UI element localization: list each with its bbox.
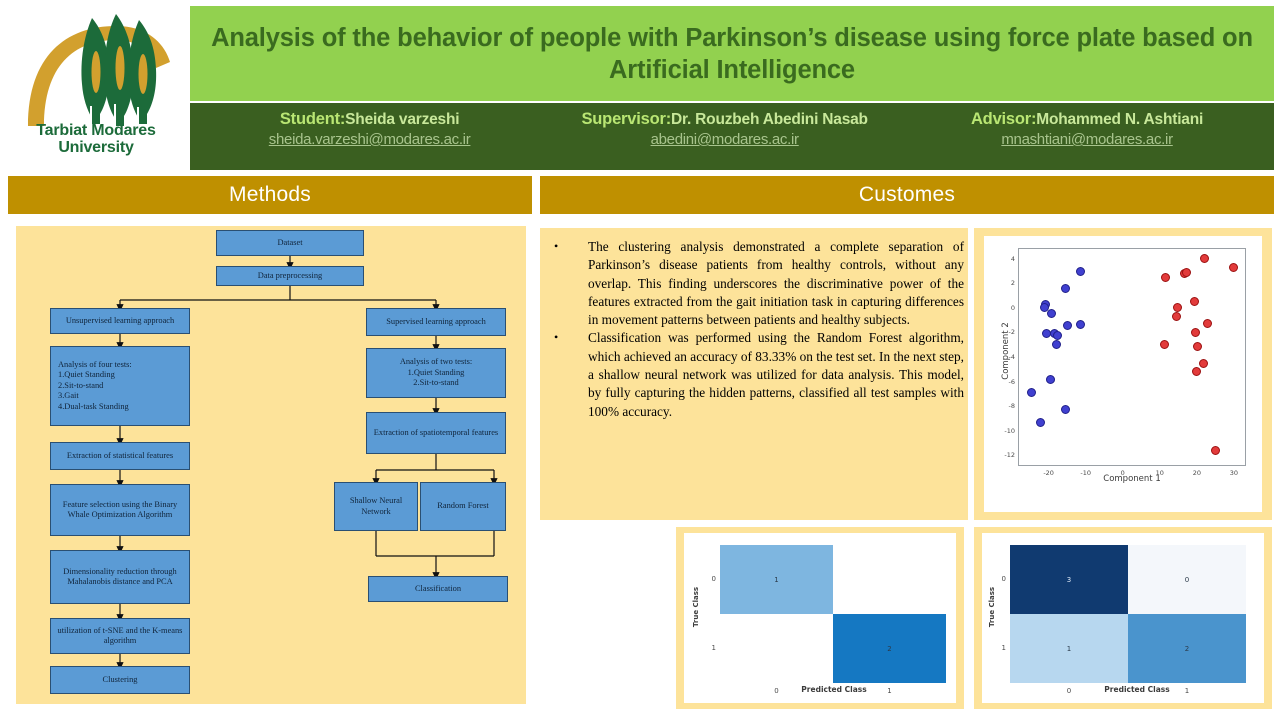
scatter-point <box>1076 267 1085 276</box>
scatter-point <box>1046 375 1055 384</box>
flow-box-dimensionality-reduction: Dimensionality reduction through Mahalan… <box>50 550 190 604</box>
author-supervisor: Supervisor:Dr. Rouzbeh Abedini Nasab abe… <box>531 110 918 148</box>
scatter-point <box>1076 320 1085 329</box>
poster-title: Analysis of the behavior of people with … <box>207 22 1257 86</box>
results-text-panel: The clustering analysis demonstrated a c… <box>540 228 968 520</box>
author-advisor: Advisor:Mohammed N. Ashtiani mnashtiani@… <box>918 110 1256 148</box>
poster-root: Tarbiat Modares University Analysis of t… <box>0 0 1280 720</box>
author-student-email[interactable]: sheida.varzeshi@modares.ac.ir <box>208 131 531 148</box>
author-supervisor-role-line: Supervisor:Dr. Rouzbeh Abedini Nasab <box>531 110 918 129</box>
flow-box-data-preprocessing: Data preprocessing <box>216 266 364 286</box>
flow-box-feature-selection-bwoa-label: Feature selection using the Binary Whale… <box>54 500 186 521</box>
authors-band: Student:Sheida varzeshi sheida.varzeshi@… <box>190 103 1274 170</box>
flow-box-classification-label: Classification <box>415 584 461 595</box>
methods-panel: Dataset Data preprocessing Unsupervised … <box>16 226 526 704</box>
scatter-plot-panel: -20-100102030 420-2-4-6-8-10-12 Componen… <box>974 228 1272 520</box>
cm-rf-cell <box>833 545 946 614</box>
flow-box-spatiotemporal-features: Extraction of spatiotemporal features <box>366 412 506 454</box>
flow-box-tsne-kmeans-label: utilization of t-SNE and the K-means alg… <box>54 626 186 647</box>
cm-rf-cell: 2 <box>833 614 946 683</box>
flow-box-clustering-label: Clustering <box>103 675 138 686</box>
cm-snn-y-tick: 1 <box>990 644 1006 652</box>
flow-box-random-forest: Random Forest <box>420 482 506 531</box>
flow-box-spatiotemporal-features-label: Extraction of spatiotemporal features <box>374 428 498 439</box>
flow-box-dimensionality-reduction-label: Dimensionality reduction through Mahalan… <box>54 567 186 588</box>
logo-line1: Tarbiat Modares <box>36 122 155 139</box>
author-advisor-role: Advisor: <box>971 110 1036 128</box>
flow-box-supervised-approach-label: Supervised learning approach <box>386 317 486 328</box>
scatter-point <box>1192 367 1201 376</box>
section-header-customes-label: Customes <box>859 183 955 207</box>
confusion-matrix-snn-chart: 3012 0101 Predicted Class True Class <box>982 533 1264 703</box>
logo-wordmark: Tarbiat Modares University <box>6 122 186 156</box>
cm-snn-cell: 0 <box>1128 545 1246 614</box>
scatter-point <box>1191 328 1200 337</box>
author-student-role-line: Student:Sheida varzeshi <box>208 110 531 129</box>
scatter-point <box>1229 263 1238 272</box>
pca-scatter-chart: -20-100102030 420-2-4-6-8-10-12 Componen… <box>984 236 1262 512</box>
section-header-methods-label: Methods <box>229 183 311 207</box>
flow-box-two-tests: Analysis of two tests: 1.Quiet Standing … <box>366 348 506 398</box>
flow-box-classification: Classification <box>368 576 508 602</box>
author-student-name: Sheida varzeshi <box>345 111 459 128</box>
scatter-y-tick: 2 <box>993 279 1015 287</box>
section-header-customes: Customes <box>540 176 1274 214</box>
scatter-y-tick: -12 <box>993 451 1015 459</box>
university-logo: Tarbiat Modares University <box>6 4 186 170</box>
flow-box-clustering: Clustering <box>50 666 190 694</box>
scatter-point <box>1047 309 1056 318</box>
author-supervisor-name: Dr. Rouzbeh Abedini Nasab <box>671 111 868 128</box>
flow-box-feature-selection-bwoa: Feature selection using the Binary Whale… <box>50 484 190 536</box>
confusion-matrix-rf-panel: 12 0101 Predicted Class True Class <box>676 527 964 709</box>
flow-box-dataset: Dataset <box>216 230 364 256</box>
methodology-flowchart: Dataset Data preprocessing Unsupervised … <box>16 226 526 704</box>
cm-rf-cell: 1 <box>720 545 833 614</box>
cm-rf-y-axis-label: True Class <box>692 573 700 641</box>
logo-mark-icon <box>20 10 172 130</box>
confusion-matrix-snn-panel: 3012 0101 Predicted Class True Class <box>974 527 1272 709</box>
author-advisor-name: Mohammed N. Ashtiani <box>1036 111 1203 128</box>
results-bullet-1: The clustering analysis demonstrated a c… <box>546 238 964 329</box>
author-supervisor-email[interactable]: abedini@modares.ac.ir <box>531 131 918 148</box>
scatter-x-axis-label: Component 1 <box>1018 474 1246 484</box>
scatter-point <box>1061 405 1070 414</box>
author-supervisor-role: Supervisor: <box>582 110 672 128</box>
author-student-role: Student: <box>280 110 345 128</box>
cm-rf-cell <box>720 614 833 683</box>
flow-box-unsupervised-approach: Unsupervised learning approach <box>50 308 190 334</box>
flow-box-statistical-features: Extraction of statistical features <box>50 442 190 470</box>
flow-box-two-tests-label: Analysis of two tests: 1.Quiet Standing … <box>400 357 472 389</box>
cm-snn-y-axis-label: True Class <box>988 573 996 641</box>
flow-box-shallow-neural-network: Shallow Neural Network <box>334 482 418 531</box>
scatter-point <box>1200 254 1209 263</box>
flow-box-supervised-approach: Supervised learning approach <box>366 308 506 336</box>
flow-box-random-forest-label: Random Forest <box>437 501 488 512</box>
flow-box-data-preprocessing-label: Data preprocessing <box>258 271 322 282</box>
scatter-y-tick: -10 <box>993 427 1015 435</box>
cm-snn-cell: 2 <box>1128 614 1246 683</box>
logo-line2: University <box>6 139 186 156</box>
cm-rf-y-tick: 1 <box>700 644 716 652</box>
scatter-plot-area <box>1018 248 1246 466</box>
flow-box-four-tests-label: Analysis of four tests: 1.Quiet Standing… <box>58 360 132 413</box>
author-student: Student:Sheida varzeshi sheida.varzeshi@… <box>208 110 531 148</box>
section-header-methods: Methods <box>8 176 532 214</box>
flow-box-unsupervised-approach-label: Unsupervised learning approach <box>66 316 174 327</box>
flow-box-dataset-label: Dataset <box>277 238 302 249</box>
cm-snn-cell: 1 <box>1010 614 1128 683</box>
scatter-point <box>1036 418 1045 427</box>
flow-box-shallow-neural-network-label: Shallow Neural Network <box>338 496 414 517</box>
cm-rf-x-axis-label: Predicted Class <box>720 685 948 694</box>
author-advisor-role-line: Advisor:Mohammed N. Ashtiani <box>918 110 1256 129</box>
poster-title-band: Analysis of the behavior of people with … <box>190 6 1274 101</box>
cm-snn-x-axis-label: Predicted Class <box>1018 685 1256 694</box>
author-advisor-email[interactable]: mnashtiani@modares.ac.ir <box>918 131 1256 148</box>
cm-snn-cell: 3 <box>1010 545 1128 614</box>
results-bullet-list: The clustering analysis demonstrated a c… <box>546 238 964 421</box>
results-bullet-2: Classification was performed using the R… <box>546 329 964 420</box>
cm-rf-y-tick: 0 <box>700 575 716 583</box>
scatter-y-axis-label: Component 2 <box>1001 291 1011 411</box>
flow-box-statistical-features-label: Extraction of statistical features <box>67 451 173 462</box>
scatter-point <box>1172 312 1181 321</box>
flow-box-tsne-kmeans: utilization of t-SNE and the K-means alg… <box>50 618 190 654</box>
scatter-y-tick: 4 <box>993 255 1015 263</box>
flow-box-four-tests: Analysis of four tests: 1.Quiet Standing… <box>50 346 190 426</box>
confusion-matrix-rf-chart: 12 0101 Predicted Class True Class <box>684 533 956 703</box>
